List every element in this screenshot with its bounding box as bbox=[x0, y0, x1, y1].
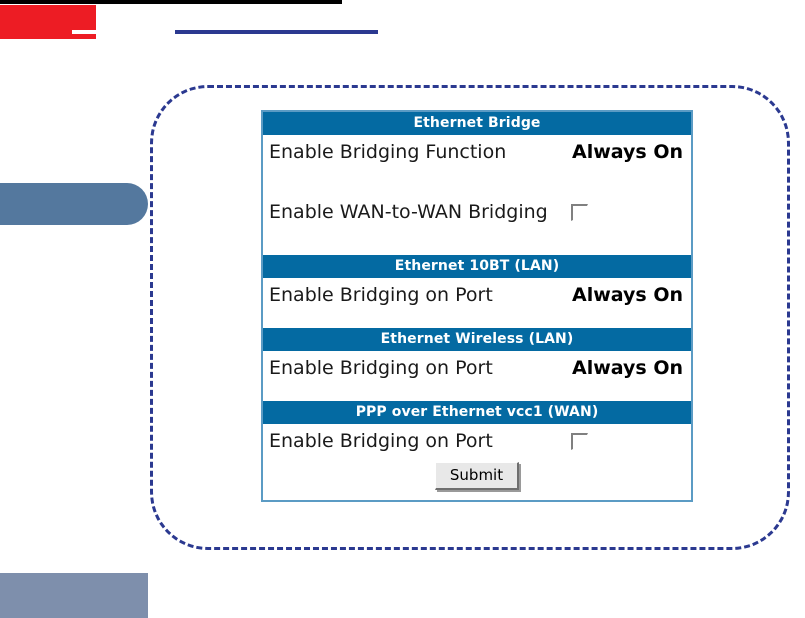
value-enable-bridging-function: Always On bbox=[572, 141, 685, 163]
row-enable-bridging-function: Enable Bridging Function Always On bbox=[263, 135, 691, 169]
brand-underline bbox=[72, 30, 126, 34]
row-enable-bridging-on-port-wireless: Enable Bridging on Port Always On bbox=[263, 351, 691, 385]
side-accent-pill bbox=[0, 183, 148, 225]
value-enable-bridging-on-port-10bt: Always On bbox=[572, 284, 685, 306]
row-spacer bbox=[263, 385, 691, 401]
label-enable-bridging-function: Enable Bridging Function bbox=[269, 141, 506, 163]
label-enable-bridging-on-port-10bt: Enable Bridging on Port bbox=[269, 284, 493, 306]
row-spacer bbox=[263, 312, 691, 328]
submit-button[interactable]: Submit bbox=[435, 462, 519, 490]
label-enable-wan-to-wan-bridging: Enable WAN-to-WAN Bridging bbox=[269, 201, 548, 223]
checkbox-shell-ppp bbox=[571, 433, 613, 450]
row-enable-bridging-on-port-10bt: Enable Bridging on Port Always On bbox=[263, 278, 691, 312]
label-enable-bridging-on-port-ppp: Enable Bridging on Port bbox=[269, 430, 493, 452]
side-accent-block bbox=[0, 573, 148, 618]
nav-underline bbox=[175, 30, 378, 34]
value-enable-bridging-on-port-wireless: Always On bbox=[572, 357, 685, 379]
submit-row: Submit bbox=[263, 458, 691, 500]
checkbox-shell-wan-to-wan bbox=[571, 204, 613, 221]
checkbox-enable-bridging-on-port-ppp[interactable] bbox=[571, 433, 588, 450]
section-header-ethernet-bridge: Ethernet Bridge bbox=[263, 112, 691, 135]
section-header-ethernet-10bt-lan: Ethernet 10BT (LAN) bbox=[263, 255, 691, 278]
row-spacer bbox=[263, 229, 691, 255]
header-black-rule bbox=[0, 0, 342, 4]
section-header-ppp-over-ethernet-vcc1-wan: PPP over Ethernet vcc1 (WAN) bbox=[263, 401, 691, 424]
row-enable-wan-to-wan-bridging: Enable WAN-to-WAN Bridging bbox=[263, 195, 691, 229]
bridge-config-form: Ethernet Bridge Enable Bridging Function… bbox=[261, 110, 693, 502]
checkbox-enable-wan-to-wan-bridging[interactable] bbox=[571, 204, 588, 221]
row-spacer bbox=[263, 169, 691, 195]
row-enable-bridging-on-port-ppp: Enable Bridging on Port bbox=[263, 424, 691, 458]
label-enable-bridging-on-port-wireless: Enable Bridging on Port bbox=[269, 357, 493, 379]
section-header-ethernet-wireless-lan: Ethernet Wireless (LAN) bbox=[263, 328, 691, 351]
